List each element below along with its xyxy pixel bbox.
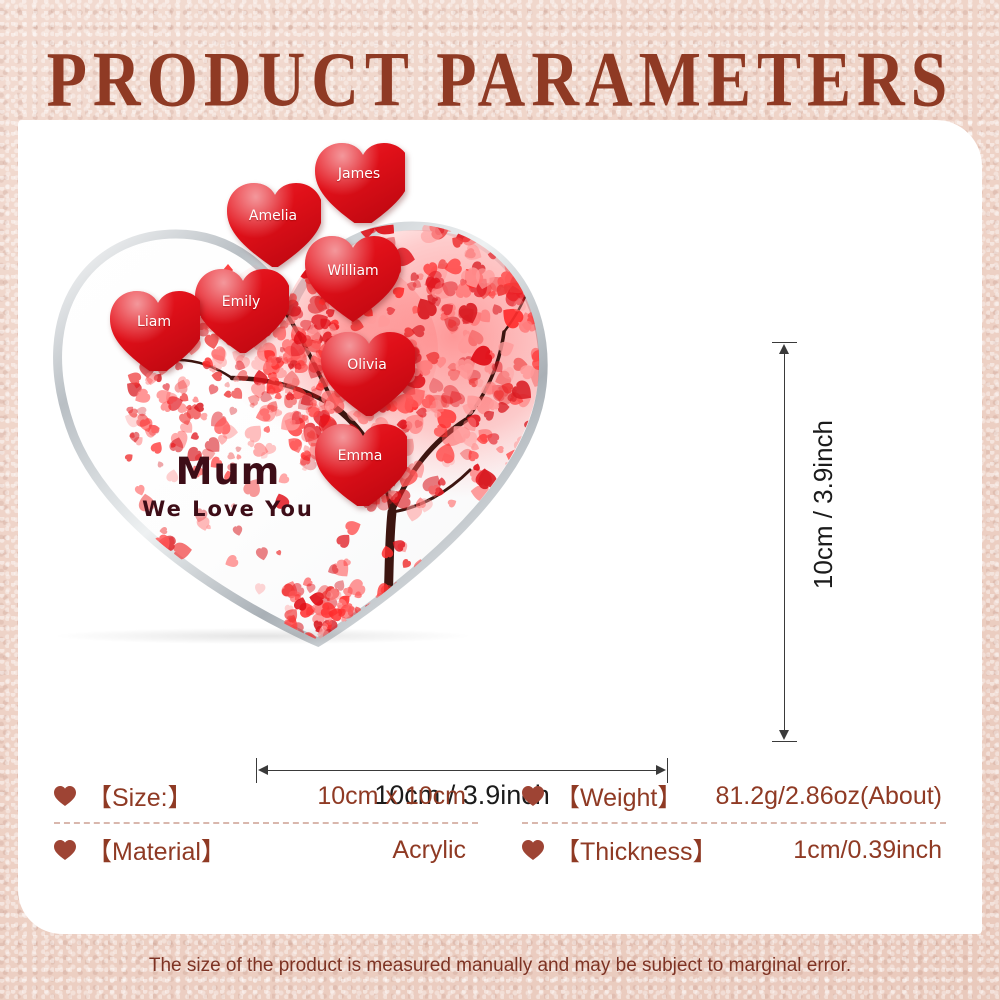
heart-bullet-icon [522, 786, 544, 806]
spec-row-thickness: 【Thickness】 1cm/0.39inch [522, 824, 946, 876]
product-illustration: Mum We Love You Amelia James William Emi… [18, 120, 982, 700]
name-label: Olivia [347, 358, 387, 372]
name-label: William [327, 264, 378, 278]
spec-label: 【Weight】 [555, 778, 682, 814]
spec-table: 【Size:】 10cm x 10cm 【Material】 Acrylic 【… [54, 770, 946, 876]
spec-column-right: 【Weight】 81.2g/2.86oz(About) 【Thickness】… [522, 770, 946, 876]
dimension-line-vertical [768, 342, 802, 742]
spec-label: 【Size:】 [87, 778, 193, 814]
dimension-label-height: 10cm / 3.9inch [808, 420, 839, 589]
heart-bullet-icon [54, 840, 76, 860]
name-label: Emily [222, 295, 261, 309]
spec-value: 1cm/0.39inch [793, 836, 946, 865]
page-root: PRODUCT PARAMETERS [0, 0, 1000, 1000]
plaque-main-text: Mum [108, 450, 348, 493]
spec-label: 【Thickness】 [555, 832, 718, 868]
name-heart-emma: Emma [313, 418, 407, 506]
plaque-sub-text: We Love You [108, 497, 348, 521]
name-heart-james: James [313, 137, 405, 223]
name-heart-william: William [303, 230, 403, 324]
spec-row-size: 【Size:】 10cm x 10cm [54, 770, 478, 822]
dimension-shaft [784, 350, 785, 734]
dimension-cap-top [772, 342, 797, 343]
spec-value: 81.2g/2.86oz(About) [715, 782, 946, 811]
name-heart-liam: Liam [108, 285, 200, 371]
spec-row-material: 【Material】 Acrylic [54, 824, 478, 876]
spec-column-left: 【Size:】 10cm x 10cm 【Material】 Acrylic [54, 770, 478, 876]
name-label: Amelia [249, 209, 297, 223]
heart-bullet-icon [522, 840, 544, 860]
spec-row-weight: 【Weight】 81.2g/2.86oz(About) [522, 770, 946, 822]
plaque-message: Mum We Love You [108, 450, 348, 521]
dimension-cap-bottom [772, 741, 797, 742]
name-label: Emma [338, 449, 383, 463]
arrow-down-icon [779, 730, 789, 740]
spec-value: Acrylic [392, 836, 478, 865]
name-heart-olivia: Olivia [319, 326, 415, 416]
plaque-shadow [58, 628, 468, 644]
page-title: PRODUCT PARAMETERS [0, 36, 1000, 126]
heart-bullet-icon [54, 786, 76, 806]
content-card: Mum We Love You Amelia James William Emi… [18, 120, 982, 934]
spec-value: 10cm x 10cm [317, 782, 478, 811]
name-heart-emily: Emily [193, 263, 289, 353]
spec-label: 【Material】 [87, 832, 226, 868]
name-label: Liam [137, 315, 171, 329]
arrow-up-icon [779, 344, 789, 354]
footer-note: The size of the product is measured manu… [0, 955, 1000, 977]
name-label: James [338, 167, 380, 181]
